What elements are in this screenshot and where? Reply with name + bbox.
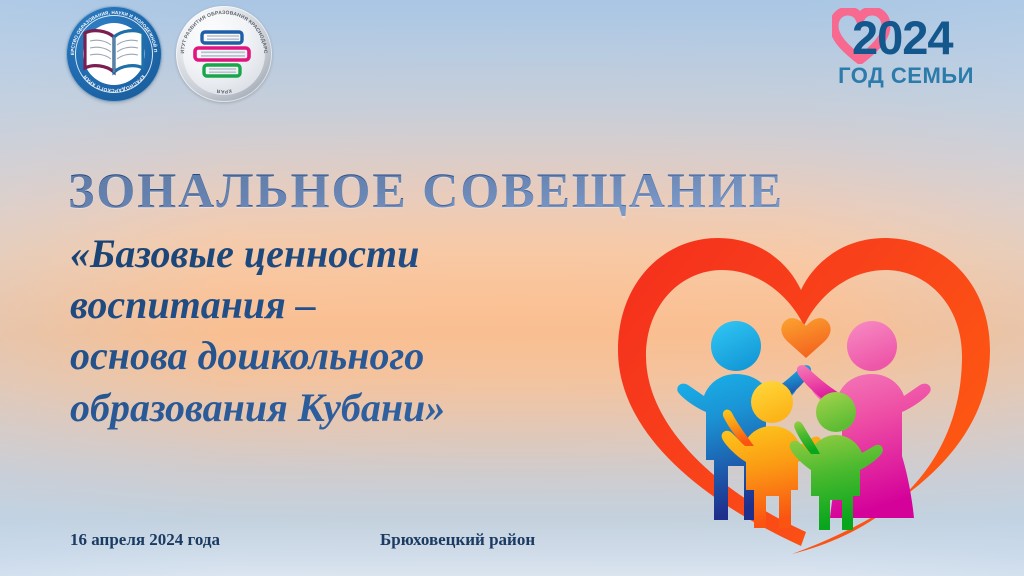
institute-ring-bottom-label: КРАЯ (216, 87, 232, 94)
svg-text:КРАЯ: КРАЯ (216, 87, 232, 94)
small-heart-icon (781, 318, 830, 358)
institute-seal-icon: ИНСТИТУТ РАЗВИТИЯ ОБРАЗОВАНИЯ КРАСНОДАРС… (176, 6, 272, 102)
event-place-label: Брюховецкий район (380, 530, 535, 550)
subtitle-line-3: основа дошкольного (70, 330, 630, 381)
father-head (711, 321, 761, 371)
figure-father (677, 321, 811, 520)
slide-subtitle: «Базовые ценности воспитания – основа до… (70, 228, 630, 433)
child-right-head (816, 392, 856, 432)
presentation-slide: МИНИСТЕРСТВО ОБРАЗОВАНИЯ, НАУКИ И МОЛОДЕ… (0, 0, 1024, 576)
subtitle-line-2: воспитания – (70, 279, 630, 330)
subtitle-line-1: «Базовые ценности (70, 228, 630, 279)
year-of-family-lockup: 2024 (832, 8, 980, 64)
family-in-heart-icon (596, 198, 1016, 568)
subtitle-line-4: образования Кубани» (70, 382, 630, 433)
open-book-icon (81, 28, 147, 85)
slide-footer: 16 апреля 2024 года Брюховецкий район (70, 530, 950, 550)
stacked-books-icon (192, 30, 256, 85)
event-date-label: 16 апреля 2024 года (70, 530, 380, 550)
year-number-label: 2024 (852, 11, 953, 64)
year-of-family-caption: ГОД СЕМЬИ (832, 65, 980, 87)
heart-outline-shape (618, 238, 990, 554)
year-of-family-logo: 2024 ГОД СЕМЬИ (832, 8, 980, 87)
mother-head (847, 321, 897, 371)
logo-group: МИНИСТЕРСТВО ОБРАЗОВАНИЯ, НАУКИ И МОЛОДЕ… (66, 6, 272, 102)
ministry-seal-icon: МИНИСТЕРСТВО ОБРАЗОВАНИЯ, НАУКИ И МОЛОДЕ… (66, 6, 162, 102)
slide-title: ЗОНАЛЬНОЕ СОВЕЩАНИЕ (68, 164, 898, 217)
child-left-head (751, 381, 793, 423)
